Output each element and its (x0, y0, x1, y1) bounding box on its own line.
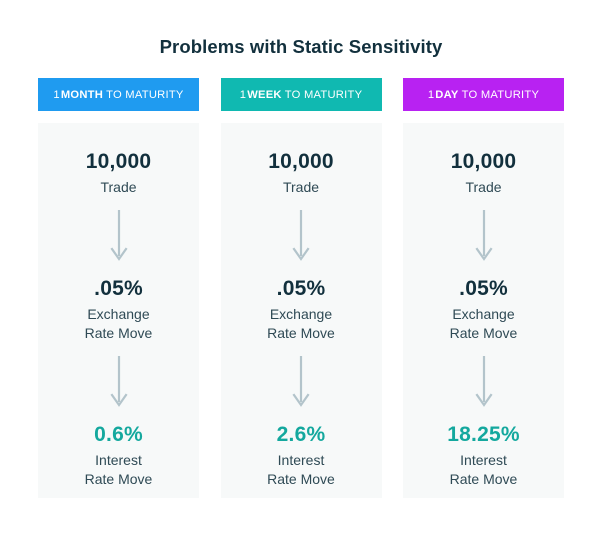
step-interest-rate-move: 2.6% Interest Rate Move (221, 422, 382, 490)
step-label: Exchange Rate Move (85, 305, 153, 344)
column-1-week: 1 WEEK TO MATURITY 10,000 Trade .05% Exc… (221, 78, 382, 498)
step-trade: 10,000 Trade (221, 149, 382, 198)
step-value: 10,000 (451, 149, 516, 175)
step-label: Trade (100, 178, 136, 198)
down-arrow-icon (473, 209, 495, 267)
step-label: Trade (283, 178, 319, 198)
step-value: 10,000 (268, 149, 333, 175)
badge-suffix: TO MATURITY (285, 89, 363, 101)
step-label: Exchange Rate Move (267, 305, 335, 344)
badge-suffix: TO MATURITY (462, 89, 540, 101)
step-exchange-rate-move: .05% Exchange Rate Move (38, 276, 199, 344)
step-exchange-rate-move: .05% Exchange Rate Move (221, 276, 382, 344)
step-value: 2.6% (277, 422, 326, 448)
badge-suffix: TO MATURITY (106, 89, 184, 101)
badge-1-day[interactable]: 1 DAY TO MATURITY (403, 78, 564, 111)
column-1-month: 1 MONTH TO MATURITY 10,000 Trade .05% Ex… (38, 78, 199, 498)
step-exchange-rate-move: .05% Exchange Rate Move (403, 276, 564, 344)
step-trade: 10,000 Trade (38, 149, 199, 198)
step-value: .05% (94, 276, 143, 302)
columns-container: 1 MONTH TO MATURITY 10,000 Trade .05% Ex… (0, 78, 602, 498)
step-trade: 10,000 Trade (403, 149, 564, 198)
page-title: Problems with Static Sensitivity (0, 0, 602, 59)
badge-emphasis: WEEK (246, 89, 285, 101)
column-1-day: 1 DAY TO MATURITY 10,000 Trade .05% Exch… (403, 78, 564, 498)
step-interest-rate-move: 18.25% Interest Rate Move (403, 422, 564, 490)
down-arrow-icon (108, 355, 130, 413)
badge-emphasis: DAY (434, 89, 461, 101)
infographic-root: Problems with Static Sensitivity 1 MONTH… (0, 0, 602, 547)
badge-1-month[interactable]: 1 MONTH TO MATURITY (38, 78, 199, 111)
step-interest-rate-move: 0.6% Interest Rate Move (38, 422, 199, 490)
down-arrow-icon (290, 355, 312, 413)
step-label: Trade (465, 178, 501, 198)
panel-1-day: 10,000 Trade .05% Exchange Rate Move 18. (403, 123, 564, 498)
step-label: Interest Rate Move (267, 451, 335, 490)
step-label: Exchange Rate Move (450, 305, 518, 344)
step-value: 0.6% (94, 422, 143, 448)
down-arrow-icon (473, 355, 495, 413)
panel-1-week: 10,000 Trade .05% Exchange Rate Move 2.6 (221, 123, 382, 498)
step-value: .05% (277, 276, 326, 302)
step-value: .05% (459, 276, 508, 302)
down-arrow-icon (290, 209, 312, 267)
step-value: 10,000 (86, 149, 151, 175)
badge-emphasis: MONTH (60, 89, 106, 101)
panel-1-month: 10,000 Trade .05% Exchange Rate Move 0.6 (38, 123, 199, 498)
step-label: Interest Rate Move (450, 451, 518, 490)
down-arrow-icon (108, 209, 130, 267)
badge-1-week[interactable]: 1 WEEK TO MATURITY (221, 78, 382, 111)
step-value: 18.25% (447, 422, 519, 448)
step-label: Interest Rate Move (85, 451, 153, 490)
